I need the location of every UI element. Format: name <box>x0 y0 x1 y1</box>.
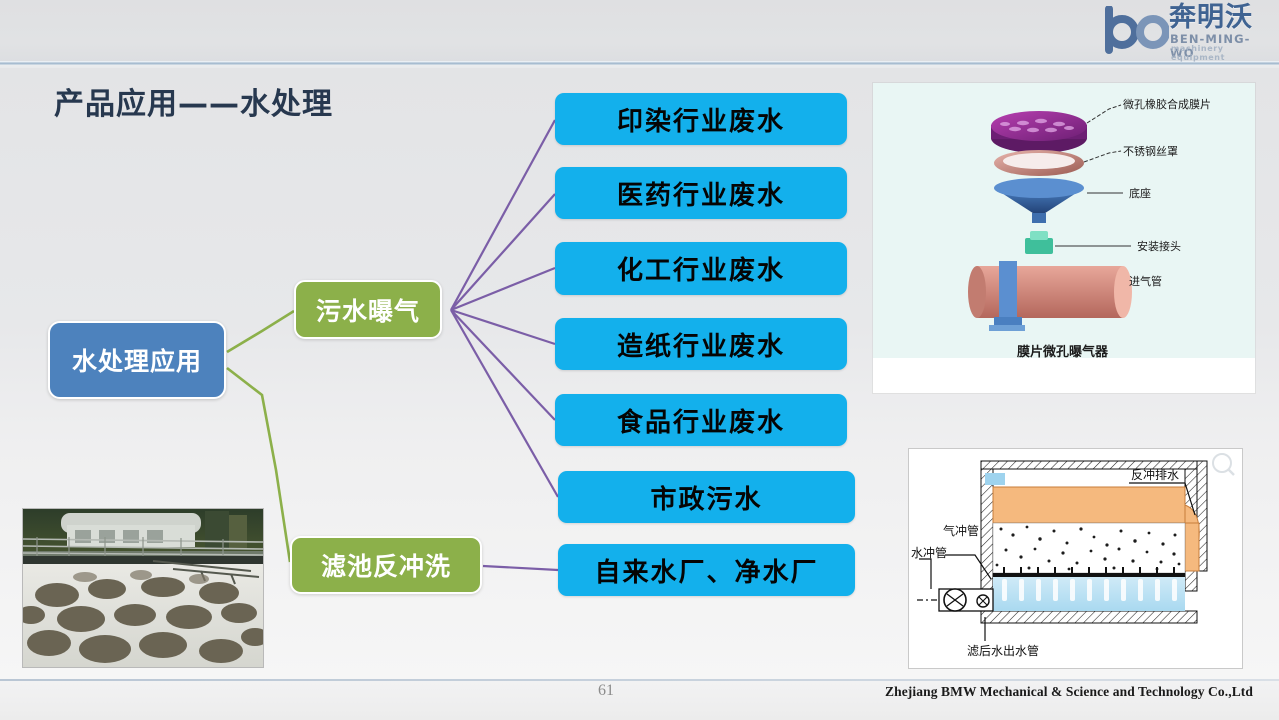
footer-company-name: Zhejiang BMW Mechanical & Science and Te… <box>885 684 1253 700</box>
aerator-callout-3: 安装接头 <box>1137 239 1181 253</box>
leaf-label-5: 市政污水 <box>650 479 762 516</box>
connector-aeration-leaf-2 <box>451 268 555 310</box>
aerator-exploded-diagram: 微孔橡胶合成膜片 不锈钢丝罩 底座 安装接头 进气管 膜片微孔曝气器 <box>873 83 1255 393</box>
mindmap-leaf-chemical[interactable]: 化工行业废水 <box>555 242 847 295</box>
header-divider-shadow <box>0 65 1279 68</box>
mindmap-root-node[interactable]: 水处理应用 <box>48 321 226 399</box>
aerator-figure: 微孔橡胶合成膜片 不锈钢丝罩 底座 安装接头 进气管 膜片微孔曝气器 <box>873 83 1255 393</box>
aerator-callout-0: 微孔橡胶合成膜片 <box>1123 97 1211 111</box>
connector-aeration-leaf-5 <box>451 310 558 497</box>
filter-callout-1: 气冲管 <box>943 523 979 538</box>
filter-callout-2: 水冲管 <box>911 545 947 560</box>
logo-tagline: machinery equipment <box>1171 44 1271 62</box>
mindmap-leaf-printing-dyeing[interactable]: 印染行业废水 <box>555 93 847 145</box>
logo-chinese: 奔明沃 <box>1169 3 1253 33</box>
aeration-basin-photo <box>22 508 264 668</box>
mindmap-leaf-pharmaceutical[interactable]: 医药行业废水 <box>555 167 847 219</box>
connector-backwash-leaf-6 <box>483 566 558 570</box>
leaf-label-3: 造纸行业废水 <box>617 326 785 363</box>
filter-backwash-figure: 反冲排水 气冲管 水冲管 滤后水出水管 <box>908 448 1243 669</box>
connector-aeration-leaf-1 <box>451 194 555 310</box>
mindmap-leaf-food[interactable]: 食品行业废水 <box>555 394 847 446</box>
mindmap-leaf-papermaking[interactable]: 造纸行业废水 <box>555 318 847 370</box>
header-band <box>0 0 1279 62</box>
filter-callout-3: 滤后水出水管 <box>967 643 1039 658</box>
aerator-callout-1: 不锈钢丝罩 <box>1123 145 1178 158</box>
mindmap-leaf-waterworks[interactable]: 自来水厂、净水厂 <box>558 544 855 596</box>
leaf-label-6: 自来水厂、净水厂 <box>594 552 818 589</box>
connector-root-aeration <box>227 311 294 352</box>
leaf-label-1: 医药行业废水 <box>617 175 785 212</box>
branch-backwash-label: 滤池反冲洗 <box>321 547 451 583</box>
aeration-basin-illustration <box>23 509 263 667</box>
leaf-label-2: 化工行业废水 <box>617 250 785 287</box>
aerator-callout-2: 底座 <box>1129 186 1151 200</box>
connector-aeration-leaf-3 <box>451 310 555 344</box>
filter-callout-0: 反冲排水 <box>1131 467 1179 482</box>
page-number: 61 <box>598 682 614 700</box>
company-logo: 奔明沃 BEN-MING-WO machinery equipment <box>1103 2 1271 56</box>
bo-mark-icon <box>1105 6 1169 56</box>
aerator-caption: 膜片微孔曝气器 <box>1017 344 1109 360</box>
watermark-icon <box>1213 454 1234 475</box>
leaf-label-4: 食品行业废水 <box>617 402 785 439</box>
filter-backwash-diagram: 反冲排水 气冲管 水冲管 滤后水出水管 <box>909 449 1242 668</box>
mindmap-branch-aeration[interactable]: 污水曝气 <box>294 280 442 339</box>
mindmap-leaf-municipal[interactable]: 市政污水 <box>558 471 855 523</box>
slide-canvas: 奔明沃 BEN-MING-WO machinery equipment 产品应用… <box>0 0 1279 720</box>
mindmap-root-label: 水处理应用 <box>72 342 202 378</box>
mindmap-branch-backwash[interactable]: 滤池反冲洗 <box>290 536 482 594</box>
aerator-callout-4: 进气管 <box>1129 274 1162 288</box>
connector-aeration-leaf-0 <box>451 120 555 310</box>
branch-aeration-label: 污水曝气 <box>316 292 420 328</box>
connector-aeration-leaf-4 <box>451 310 555 420</box>
page-title: 产品应用——水处理 <box>54 79 333 123</box>
leaf-label-0: 印染行业废水 <box>617 101 785 138</box>
